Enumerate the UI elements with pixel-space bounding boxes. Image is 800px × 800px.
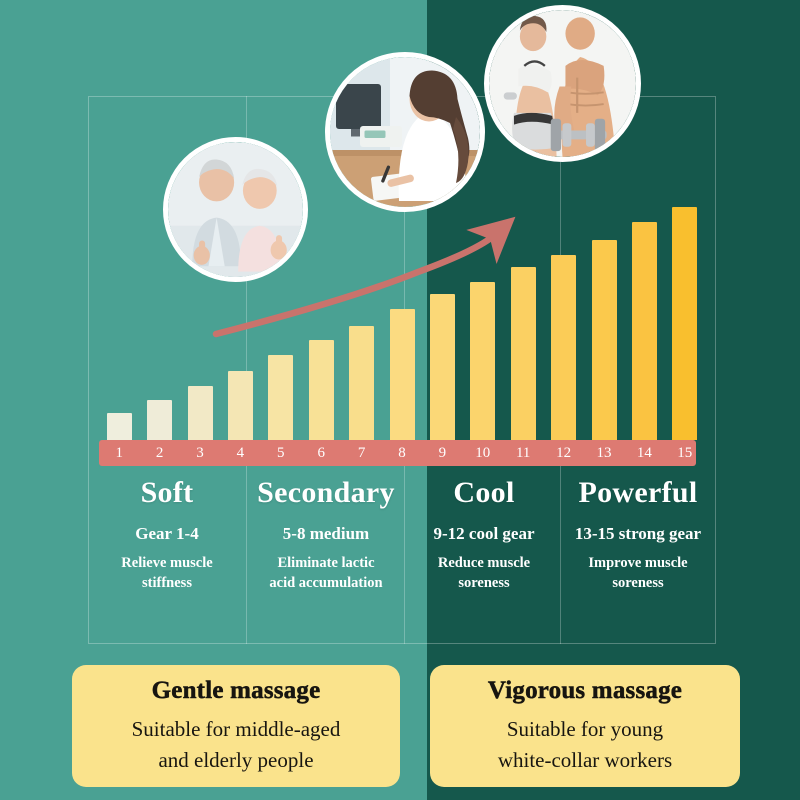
gear-number-2: 2 xyxy=(143,440,177,466)
gear-number-12: 12 xyxy=(547,440,581,466)
fitness-athletes-photo-image xyxy=(489,10,636,157)
bar-gear-13 xyxy=(592,240,617,440)
category-desc-line: stiffness xyxy=(92,573,242,594)
fitness-athletes-photo xyxy=(484,5,641,162)
category-block-soft: Soft Gear 1-4 Relieve muscle stiffness xyxy=(92,476,242,594)
gear-number-8: 8 xyxy=(385,440,419,466)
category-desc-line: soreness xyxy=(560,573,716,594)
category-block-cool: Cool 9-12 cool gear Reduce muscle sorene… xyxy=(406,476,562,594)
category-desc-line: Improve muscle xyxy=(560,553,716,574)
category-block-secondary: Secondary 5-8 medium Eliminate lactic ac… xyxy=(248,476,404,594)
gear-number-15: 15 xyxy=(668,440,702,466)
gear-number-11: 11 xyxy=(506,440,540,466)
gear-number-strip: 123456789101112131415 xyxy=(99,440,696,466)
callout-vigorous-massage: Vigorous massage Suitable for young whit… xyxy=(430,665,740,787)
category-title: Soft xyxy=(92,476,242,510)
bar-gear-9 xyxy=(430,294,455,440)
category-title: Cool xyxy=(406,476,562,510)
callout-title: Vigorous massage xyxy=(440,677,730,705)
bar-gear-11 xyxy=(511,267,536,440)
callout-line: and elderly people xyxy=(82,745,390,775)
bar-gear-15 xyxy=(672,207,697,440)
category-range: 5-8 medium xyxy=(248,524,404,544)
category-block-powerful: Powerful 13-15 strong gear Improve muscl… xyxy=(560,476,716,594)
category-desc-line: Relieve muscle xyxy=(92,553,242,574)
category-desc-line: Eliminate lactic xyxy=(248,553,404,574)
callout-line: Suitable for young xyxy=(440,714,730,744)
callout-title: Gentle massage xyxy=(82,677,390,705)
category-range: 13-15 strong gear xyxy=(560,524,716,544)
category-title: Secondary xyxy=(248,476,404,510)
category-title: Powerful xyxy=(560,476,716,510)
bar-gear-1 xyxy=(107,413,132,440)
category-range: Gear 1-4 xyxy=(92,524,242,544)
category-range: 9-12 cool gear xyxy=(406,524,562,544)
callout-line: Suitable for middle-aged xyxy=(82,714,390,744)
bar-gear-6 xyxy=(309,340,334,440)
category-desc-line: Reduce muscle xyxy=(406,553,562,574)
gear-bar-chart xyxy=(88,180,716,440)
bar-gear-8 xyxy=(390,309,415,440)
gear-number-7: 7 xyxy=(345,440,379,466)
gear-number-9: 9 xyxy=(425,440,459,466)
gear-number-3: 3 xyxy=(183,440,217,466)
bar-gear-10 xyxy=(470,282,495,440)
gear-number-4: 4 xyxy=(223,440,257,466)
bar-gear-4 xyxy=(228,371,253,440)
category-desc-line: acid accumulation xyxy=(248,573,404,594)
category-desc-line: soreness xyxy=(406,573,562,594)
bar-gear-5 xyxy=(268,355,293,440)
bar-gear-3 xyxy=(188,386,213,440)
gear-number-1: 1 xyxy=(102,440,136,466)
callout-gentle-massage: Gentle massage Suitable for middle-aged … xyxy=(72,665,400,787)
infographic-canvas: 123456789101112131415 Soft Gear 1-4 Reli… xyxy=(0,0,800,800)
bar-gear-12 xyxy=(551,255,576,440)
gear-number-5: 5 xyxy=(264,440,298,466)
gear-number-6: 6 xyxy=(304,440,338,466)
gear-number-13: 13 xyxy=(587,440,621,466)
gear-number-14: 14 xyxy=(627,440,661,466)
gear-number-10: 10 xyxy=(466,440,500,466)
callout-line: white-collar workers xyxy=(440,745,730,775)
bar-gear-2 xyxy=(147,400,172,440)
bar-gear-7 xyxy=(349,326,374,440)
bar-gear-14 xyxy=(632,222,657,440)
